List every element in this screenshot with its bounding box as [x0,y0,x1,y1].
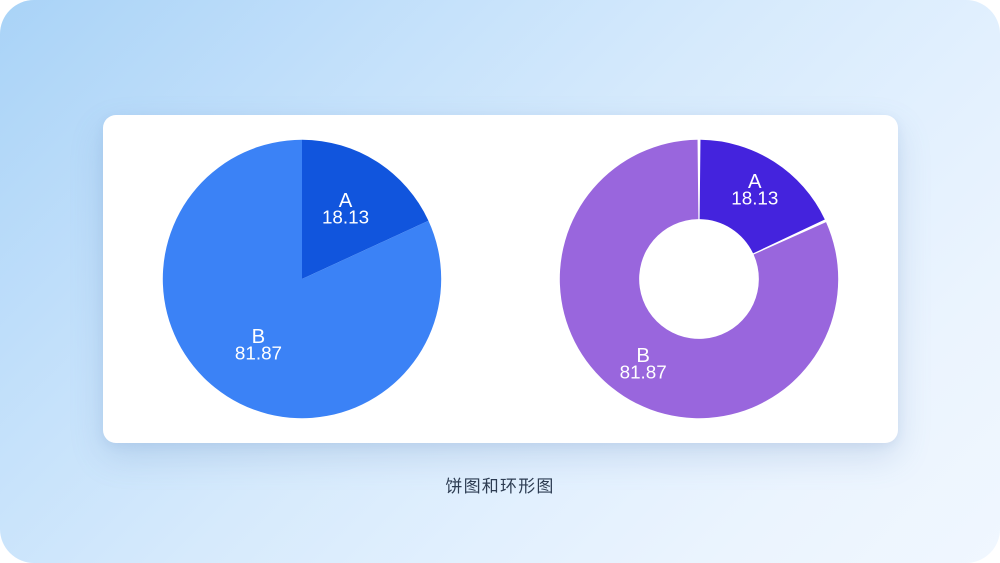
donut-slice-b-label-value: 81.87 [620,362,667,383]
donut-chart-container: A 18.13 B 81.87 [501,115,899,443]
pie-slice-b-label-value: 81.87 [235,343,282,364]
app-canvas: A 18.13 B 81.87 A 18.13 B 81.87 [0,0,1000,563]
pie-slices [163,140,441,418]
chart-card: A 18.13 B 81.87 A 18.13 B 81.87 [103,115,898,443]
pie-chart-container: A 18.13 B 81.87 [103,115,501,443]
donut-chart[interactable]: A 18.13 B 81.87 [554,134,844,424]
donut-slice-a-label-value: 18.13 [731,187,778,208]
pie-slice-a-label-value: 18.13 [322,207,369,228]
figure-caption: 饼图和环形图 [0,472,1000,497]
donut-slices [560,140,838,418]
pie-chart[interactable]: A 18.13 B 81.87 [157,134,447,424]
